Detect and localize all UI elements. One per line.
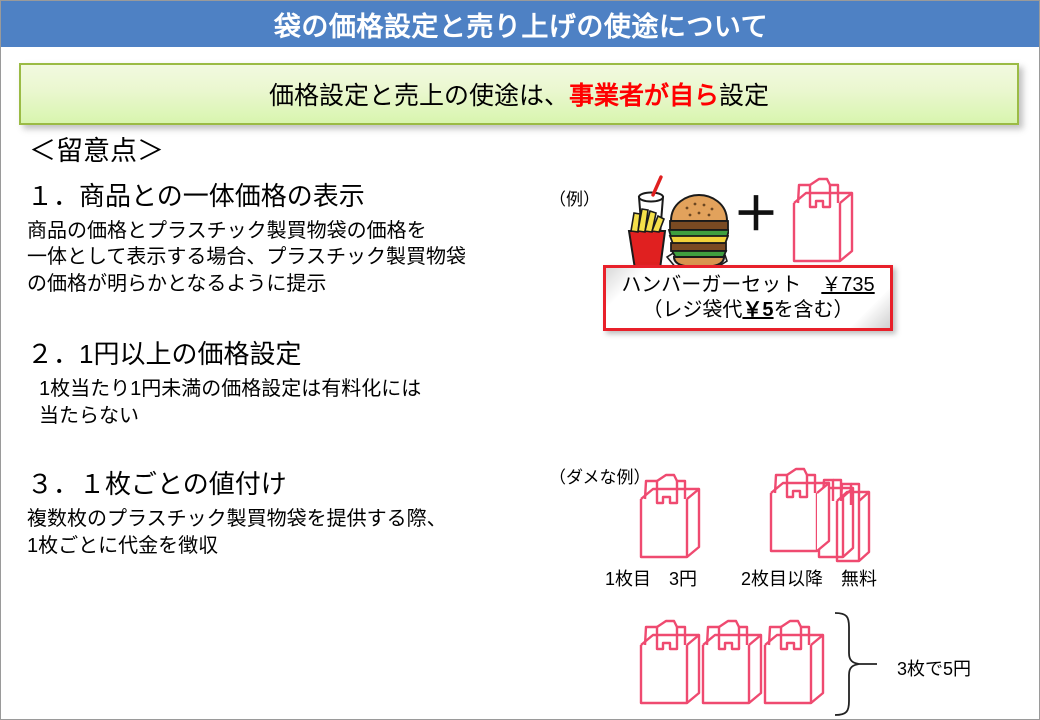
banner-text-accent: 事業者が自ら	[569, 82, 719, 110]
bad-example-caption-rest: 2枚目以降 無料	[741, 565, 877, 591]
note-item-1-line-3: の価格が明らかとなるように提示	[27, 271, 532, 297]
examples-column: （例）	[541, 137, 1031, 707]
bad-example-multiple-bags-icon	[763, 467, 881, 569]
note-item-1-line-1: 商品の価格とプラスチック製買物袋の価格を	[27, 218, 532, 244]
price-line-item: ハンバーガーセット ￥735	[621, 273, 874, 298]
price-line-bag: （レジ袋代￥5を含む）	[642, 298, 853, 323]
bad-example-caption-first: 1枚目 3円	[605, 565, 697, 591]
hamburger-meal-icon	[621, 175, 729, 275]
banner-text-after: 設定	[719, 82, 769, 110]
price-display-box: ハンバーガーセット ￥735 （レジ袋代￥5を含む）	[603, 265, 893, 331]
good-example-row: （例）	[541, 175, 1031, 275]
example-label: （例）	[549, 185, 600, 210]
price-item-amount: ￥735	[821, 274, 874, 296]
plastic-bag-icon	[786, 177, 860, 269]
notes-heading: ＜留意点＞	[29, 137, 532, 167]
price-sub-amount: ￥5	[742, 299, 773, 321]
plus-icon: ＋	[733, 191, 779, 237]
price-sub-prefix: （レジ袋代	[642, 299, 742, 321]
price-item-name: ハンバーガーセット	[621, 274, 801, 296]
slide-title-bar: 袋の価格設定と売り上げの使途について	[1, 1, 1040, 47]
note-item-2: ２．1円以上の価格設定 1枚当たり1円未満の価格設定は有料化には 当たらない	[27, 339, 532, 429]
banner-text-before: 価格設定と売上の使途は、	[269, 82, 569, 110]
bad-example-single-bag-icon	[633, 473, 707, 565]
note-item-3: ３．１枚ごとの値付け 複数枚のプラスチック製買物袋を提供する際、 1枚ごとに代金…	[27, 469, 532, 559]
note-item-1-body: 商品の価格とプラスチック製買物袋の価格を 一体として表示する場合、プラスチック製…	[27, 218, 532, 297]
note-item-3-body: 複数枚のプラスチック製買物袋を提供する際、 1枚ごとに代金を徴収	[27, 506, 532, 559]
bundle-caption: 3枚で5円	[897, 655, 971, 681]
note-item-3-title: ３．１枚ごとの値付け	[27, 469, 532, 500]
slide-canvas: 袋の価格設定と売り上げの使途について 価格設定と売上の使途は、事業者が自ら設定 …	[0, 0, 1040, 720]
note-item-1: １．商品との一体価格の表示 商品の価格とプラスチック製買物袋の価格を 一体として…	[27, 181, 532, 297]
price-sub-suffix: を含む）	[774, 299, 854, 321]
key-message-banner: 価格設定と売上の使途は、事業者が自ら設定	[19, 63, 1019, 125]
note-item-2-body: 1枚当たり1円未満の価格設定は有料化には 当たらない	[27, 376, 532, 429]
note-item-2-title: ２．1円以上の価格設定	[27, 339, 532, 370]
note-item-1-line-2: 一体として表示する場合、プラスチック製買物袋	[27, 244, 532, 270]
note-item-2-line-1: 1枚当たり1円未満の価格設定は有料化には	[39, 376, 532, 402]
note-item-2-line-2: 当たらない	[39, 403, 532, 429]
page-title: 袋の価格設定と売り上げの使途について	[274, 5, 768, 44]
note-item-3-line-1: 複数枚のプラスチック製買物袋を提供する際、	[27, 506, 532, 532]
notes-column: ＜留意点＞ １．商品との一体価格の表示 商品の価格とプラスチック製買物袋の価格を…	[27, 137, 532, 585]
note-item-1-title: １．商品との一体価格の表示	[27, 181, 532, 212]
note-item-3-line-2: 1枚ごとに代金を徴収	[27, 533, 532, 559]
key-message-text: 価格設定と売上の使途は、事業者が自ら設定	[269, 76, 769, 112]
bundle-three-bags-icon	[633, 619, 829, 711]
bundle-brace-icon	[831, 609, 891, 719]
